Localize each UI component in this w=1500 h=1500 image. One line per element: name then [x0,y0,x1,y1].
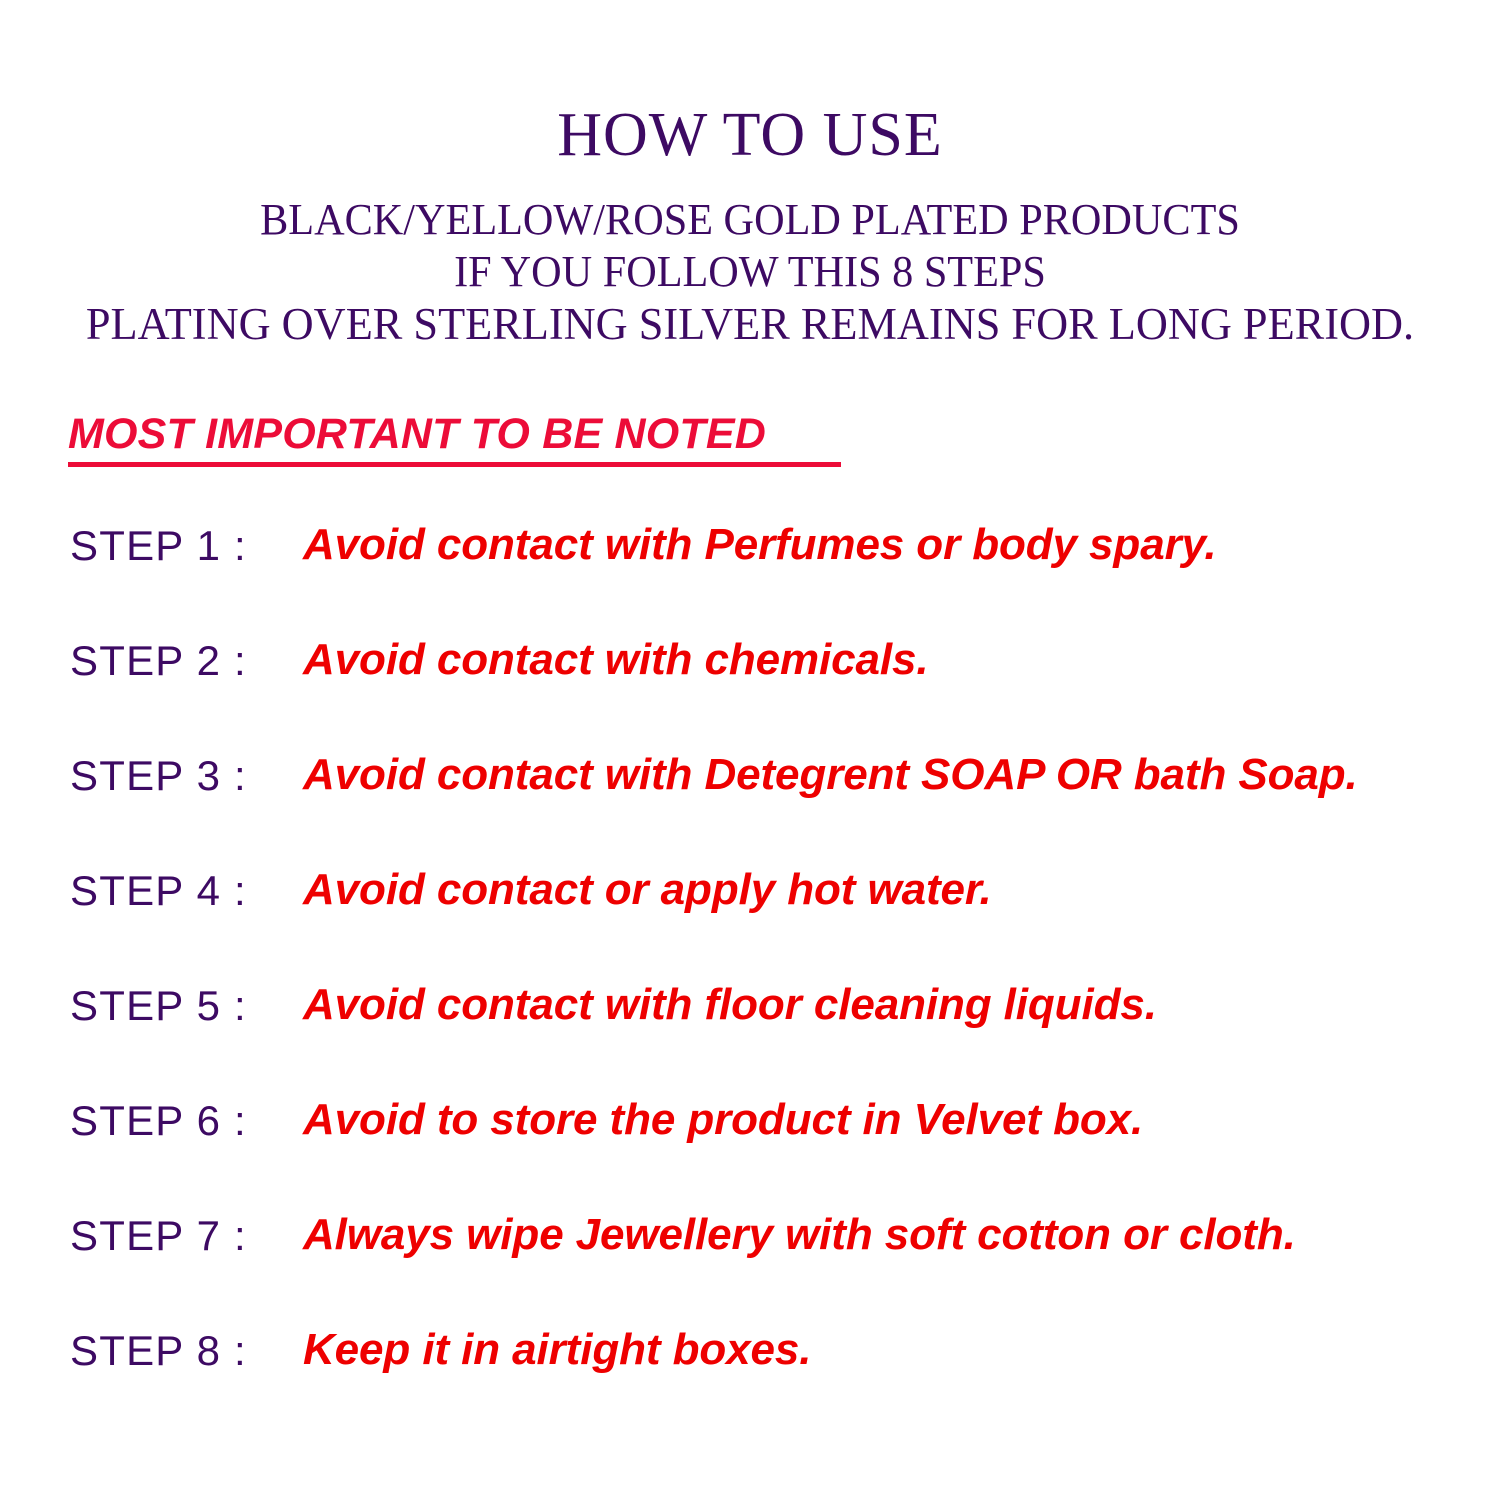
step-label: STEP 1 : [70,525,247,567]
step-row: STEP 4 : Avoid contact or apply hot wate… [0,870,1500,985]
step-row: STEP 5 : Avoid contact with floor cleani… [0,985,1500,1100]
subtitle-line-2: IF YOU FOLLOW THIS 8 STEPS [30,246,1470,298]
most-important-notice: MOST IMPORTANT TO BE NOTED [68,413,766,456]
heading-block: HOW TO USE BLACK/YELLOW/ROSE GOLD PLATED… [0,0,1500,351]
step-text: Avoid contact with Detegrent SOAP OR bat… [303,753,1358,797]
subtitle-group: BLACK/YELLOW/ROSE GOLD PLATED PRODUCTS I… [0,194,1500,351]
step-text: Avoid contact with floor cleaning liquid… [303,983,1157,1027]
step-label: STEP 3 : [70,755,247,797]
step-row: STEP 2 : Avoid contact with chemicals. [0,640,1500,755]
step-text: Avoid to store the product in Velvet box… [303,1098,1143,1142]
step-label: STEP 2 : [70,640,247,682]
step-text: Avoid contact with Perfumes or body spar… [303,523,1216,567]
step-label: STEP 8 : [70,1330,247,1372]
step-label: STEP 7 : [70,1215,247,1257]
step-label: STEP 5 : [70,985,247,1027]
step-row: STEP 8 : Keep it in airtight boxes. [0,1330,1500,1445]
step-text: Always wipe Jewellery with soft cotton o… [303,1213,1296,1257]
subtitle-line-3: PLATING OVER STERLING SILVER REMAINS FOR… [11,298,1489,351]
page-title: HOW TO USE [0,0,1500,168]
subtitle-line-1: BLACK/YELLOW/ROSE GOLD PLATED PRODUCTS [30,194,1470,246]
step-row: STEP 3 : Avoid contact with Detegrent SO… [0,755,1500,870]
step-row: STEP 7 : Always wipe Jewellery with soft… [0,1215,1500,1330]
step-text: Keep it in airtight boxes. [303,1328,811,1372]
step-text: Avoid contact with chemicals. [303,638,928,682]
steps-list: STEP 1 : Avoid contact with Perfumes or … [0,525,1500,1445]
step-text: Avoid contact or apply hot water. [303,868,992,912]
step-label: STEP 4 : [70,870,247,912]
how-to-use-page: HOW TO USE BLACK/YELLOW/ROSE GOLD PLATED… [0,0,1500,1500]
step-row: STEP 1 : Avoid contact with Perfumes or … [0,525,1500,640]
step-row: STEP 6 : Avoid to store the product in V… [0,1100,1500,1215]
step-label: STEP 6 : [70,1100,247,1142]
notice-underline [68,462,841,467]
